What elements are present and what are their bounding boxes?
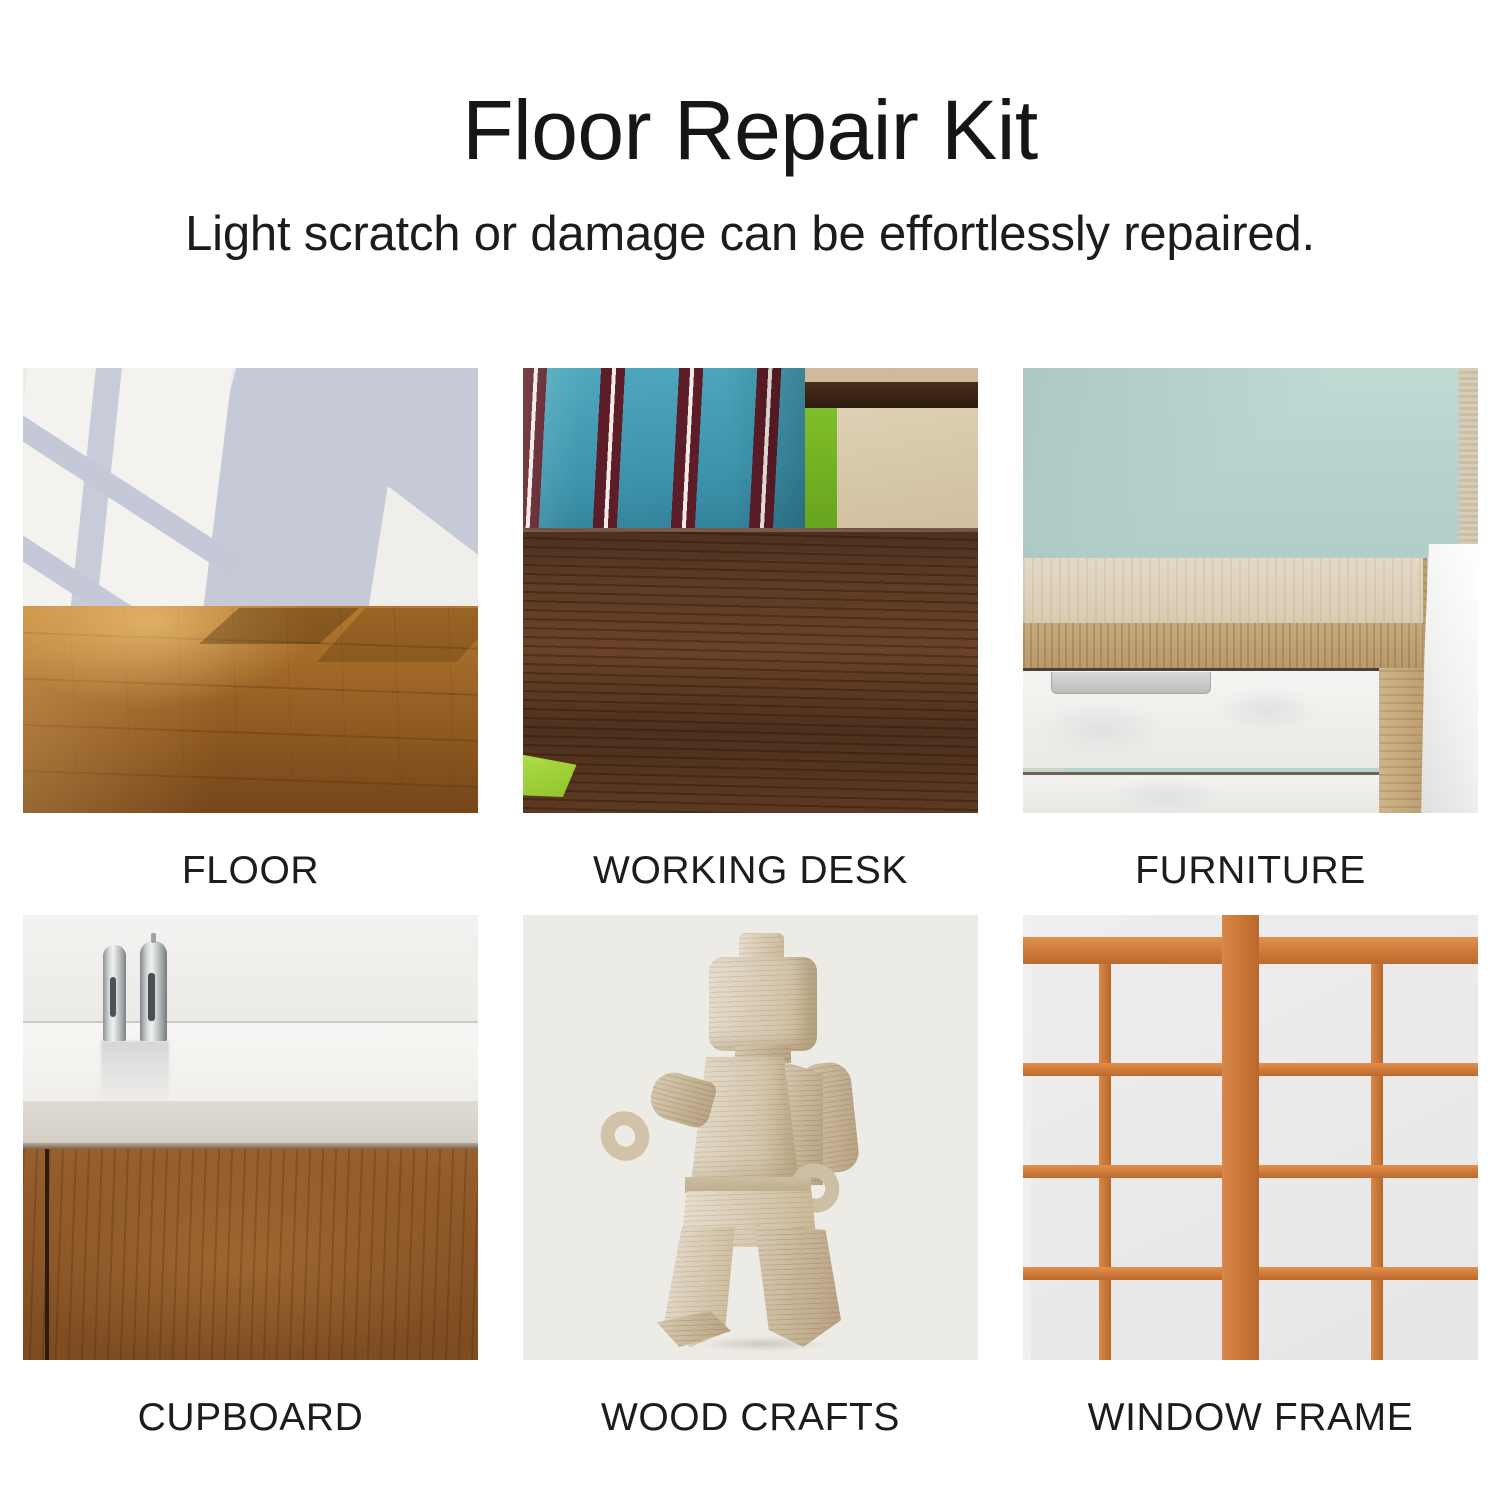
drawer-handle [1051,672,1211,694]
wall-corner-trim [1459,368,1478,558]
caption-cupboard: CUPBOARD [23,1360,478,1462]
counter-reflection [101,1041,169,1103]
caption-floor: FLOOR [23,813,478,915]
cupboard-image [23,915,478,1360]
header: Floor Repair Kit Light scratch or damage… [0,0,1500,262]
oak-tabletop [1023,558,1423,623]
window-frame-image [1023,915,1478,1360]
caption-text: WINDOW FRAME [1088,1396,1414,1440]
center-mullion [1222,915,1259,1360]
gallery-item-wood-crafts[interactable]: WOOD CRAFTS [523,915,978,1462]
pepper-grinder-knob [151,933,156,943]
page-title: Floor Repair Kit [0,86,1500,174]
caption-wood-crafts: WOOD CRAFTS [523,1360,978,1462]
gallery-item-window-frame[interactable]: WINDOW FRAME [1023,915,1478,1462]
figure-head [709,957,817,1051]
bed-linen [1421,544,1478,813]
walnut-cabinet-door [23,1149,478,1360]
back-wall [23,915,478,1025]
figure-right-leg [755,1225,841,1347]
caption-text: WORKING DESK [593,849,908,893]
caption-text: CUPBOARD [138,1396,364,1440]
wood-crafts-image [523,915,978,1360]
page-subtitle: Light scratch or damage can be effortles… [0,208,1500,262]
caption-window-frame: WINDOW FRAME [1023,1360,1478,1462]
application-gallery-grid: FLOOR WORKING DESK [23,368,1479,1462]
cabinet-door-gap [45,1149,49,1360]
gallery-item-working-desk[interactable]: WORKING DESK [523,368,978,915]
desktop-highlight-edge [523,528,978,532]
lower-drawer [1023,772,1383,813]
working-desk-image [523,368,978,813]
cloth-fold-shading [523,368,805,534]
pepper-grinder-window [148,973,155,1021]
vertical-muntin-right [1371,964,1383,1360]
figure-belt [685,1177,811,1193]
figure-left-hand [592,1102,659,1169]
mint-wall [1023,368,1463,568]
caption-furniture: FURNITURE [1023,813,1478,915]
backsplash [23,1023,478,1105]
walnut-desktop [523,528,978,813]
green-panel [801,408,837,533]
caption-text: WOOD CRAFTS [601,1396,900,1440]
salt-grinder-window [110,977,116,1017]
plywood-panel [837,408,978,533]
furniture-image [1023,368,1478,813]
dark-rail [781,382,978,408]
vertical-muntin-left [1099,964,1111,1360]
floor-image [23,368,478,813]
product-infographic: Floor Repair Kit Light scratch or damage… [0,0,1500,1500]
caption-working-desk: WORKING DESK [523,813,978,915]
gallery-item-cupboard[interactable]: CUPBOARD [23,915,478,1462]
caption-text: FURNITURE [1135,849,1366,893]
gallery-item-furniture[interactable]: FURNITURE [1023,368,1478,915]
tabletop-front-edge [1023,620,1423,668]
gallery-item-floor[interactable]: FLOOR [23,368,478,915]
caption-text: FLOOR [182,849,319,893]
left-margin [1023,915,1031,1360]
countertop-surface [23,1101,478,1145]
wooden-minifigure [523,915,978,1360]
